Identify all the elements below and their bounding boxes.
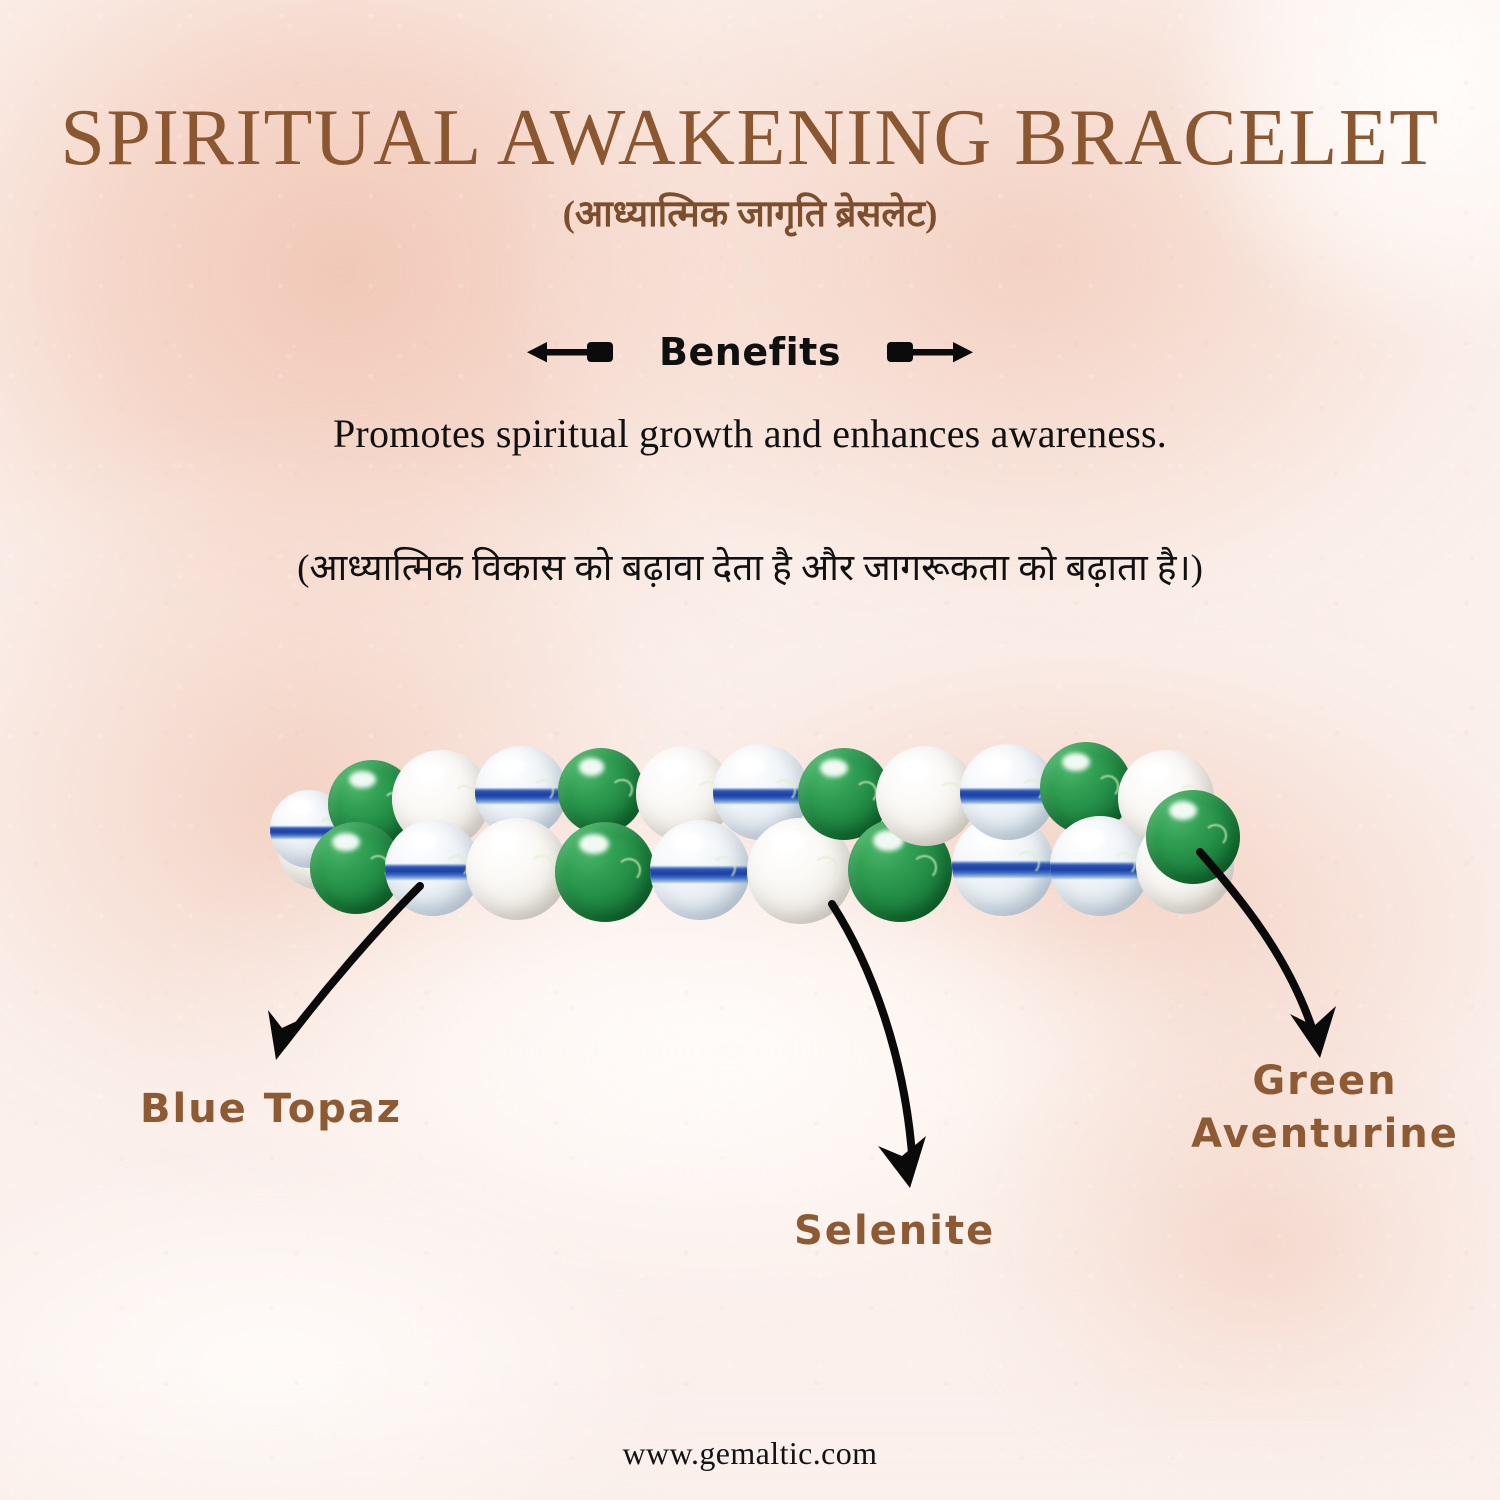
bead-rim-highlight <box>1097 775 1119 797</box>
bead-green <box>555 822 655 922</box>
bead-highlight <box>289 799 312 815</box>
benefit-text-hindi: (आध्यात्मिक विकास को बढ़ावा देता है और ज… <box>0 545 1500 593</box>
page-title: SPIRITUAL AWAKENING BRACELET <box>0 96 1500 180</box>
bead-rim-highlight <box>1204 824 1227 847</box>
bead-highlight <box>1141 762 1170 781</box>
bead-highlight <box>820 759 848 777</box>
bead-rim-highlight <box>855 781 877 803</box>
bead-rim-highlight <box>453 785 477 809</box>
benefits-heading-row: Benefits <box>0 330 1500 374</box>
bead-rim-highlight <box>938 782 962 806</box>
bead-highlight <box>408 832 437 851</box>
bead-rim-highlight <box>1112 852 1136 876</box>
bead-rim-highlight <box>1015 851 1039 875</box>
callout-label-green-aventurine: Green Aventurine <box>1190 1055 1460 1161</box>
bead-highlight <box>983 756 1012 775</box>
bead-highlight <box>736 756 765 775</box>
bead-rim-highlight <box>813 856 838 881</box>
bead-highlight <box>416 762 445 782</box>
bead-highlight <box>1074 828 1104 848</box>
bead-highlight <box>674 832 704 852</box>
bead-white <box>466 818 568 920</box>
bead-highlight <box>900 758 930 778</box>
bead-highlight <box>579 758 605 775</box>
page-title-hindi: (आध्यात्मिक जागृति ब्रेसलेट) <box>0 192 1500 238</box>
bead-highlight <box>349 771 375 789</box>
bead-highlight <box>1062 753 1090 771</box>
curved-arrow-down-icon <box>826 900 966 1200</box>
bead-rim-highlight <box>445 855 468 878</box>
bead-rim-highlight <box>617 858 641 882</box>
bead-highlight <box>772 831 804 852</box>
bead-highlight <box>332 833 360 851</box>
bead-rim-highlight <box>773 779 796 802</box>
bead-rim-highlight <box>912 855 937 880</box>
footer-website: www.gemaltic.com <box>0 1435 1500 1472</box>
callout-label-selenite: Selenite <box>794 1205 995 1258</box>
bead-rim-highlight <box>529 855 553 879</box>
poster-canvas: SPIRITUAL AWAKENING BRACELET (आध्यात्मिक… <box>0 0 1500 1500</box>
bead-highlight <box>1169 801 1197 820</box>
benefit-text-english: Promotes spiritual growth and enhances a… <box>0 410 1500 457</box>
right-arrow-square-icon <box>883 335 975 369</box>
benefits-heading: Benefits <box>659 330 841 374</box>
bead-highlight <box>490 830 521 850</box>
bead-rim-highlight <box>532 779 554 801</box>
bead-highlight <box>579 834 609 854</box>
callout-label-blue-topaz: Blue Topaz <box>140 1083 402 1136</box>
bead-rim-highlight <box>611 779 632 800</box>
bead-highlight <box>497 757 525 775</box>
bead-green <box>1146 790 1240 884</box>
bead-highlight <box>659 758 688 777</box>
product-bracelet-image <box>270 742 1240 942</box>
left-arrow-square-icon <box>525 335 617 369</box>
bead-rim-highlight <box>712 856 736 880</box>
